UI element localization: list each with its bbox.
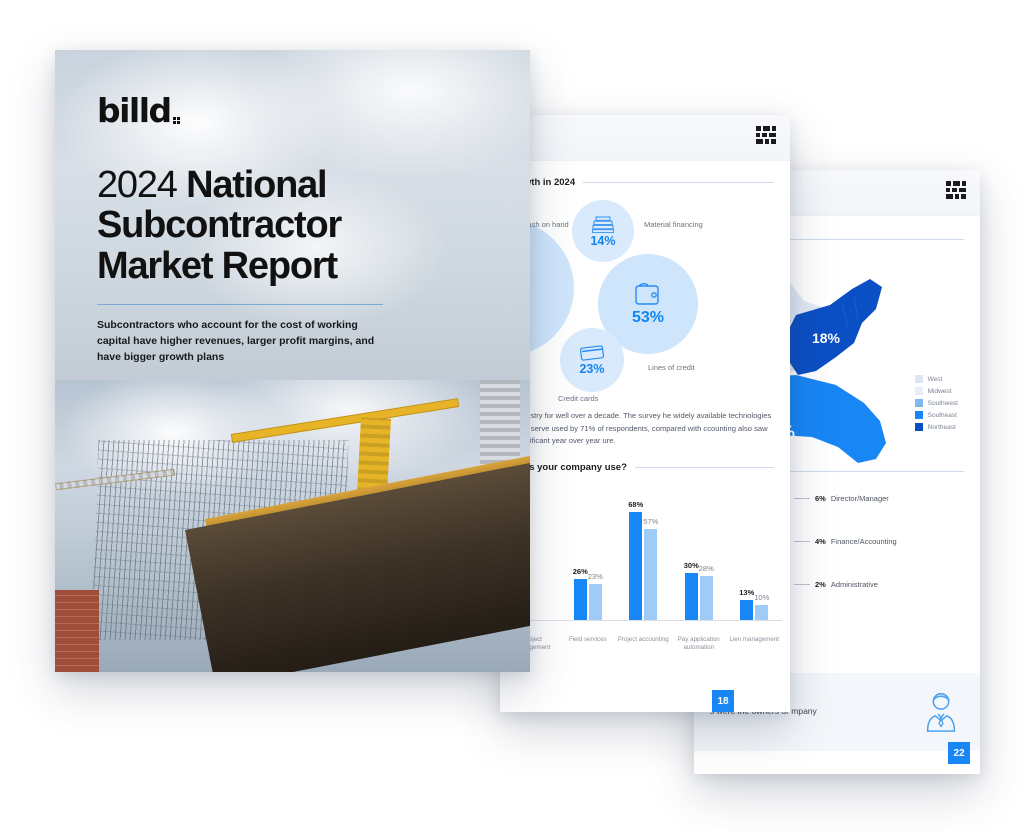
credit-card-icon [580,344,604,361]
role-callouts: 6% Director/Manager 4% Finance/Accountin… [794,494,974,623]
cover-subtitle: Subcontractors who account for the cost … [97,318,377,365]
bar-value-label: 13% [739,588,754,597]
billd-wordmark: billd [97,94,180,127]
bar-light-project-accounting: 57% [644,529,657,621]
legend-swatch-midwest [915,387,923,395]
bar-dark-lien: 13% [740,600,753,621]
bar-chart-axis [500,620,782,621]
legend-swatch-west [915,375,923,383]
bubble-label-material: Material financing [644,220,703,229]
cover-divider-rule [97,304,383,306]
technology-paragraph: industry for well over a decade. The sur… [516,410,774,448]
bubble-value-credit-lines: 53% [632,309,664,327]
map-region-northeast [786,279,882,375]
legend-swatch-southwest [915,399,923,407]
bubble-label-credit-lines: Lines of credit [648,363,695,372]
funding-bubble-chart: 72% Cash on hand 14% Material financing [516,198,774,398]
cover-title-national: National [186,164,326,206]
bar-value-label: 68% [628,500,643,509]
bar-dark-pay-app: 30% [685,573,698,621]
map-legend: West Midwest Southwest Southeast [915,375,958,435]
bar-light-lien: 10% [755,605,768,621]
legend-item-southeast: Southeast [915,411,958,419]
cover-content: billd 2024 National Subcontractor Market… [55,50,530,380]
cover-title-line-1: 2024 National [97,165,490,205]
role-callout-finance: 4% Finance/Accounting [794,537,974,546]
brick-grid-icon [946,181,966,199]
legend-item-southwest: Southwest [915,399,958,407]
xlabel-lien-management: Lien management [727,636,783,653]
xlabel-project-accounting: Project accounting [616,636,672,653]
bar-value-label: 57% [643,517,658,526]
bar-dark-project-accounting: 68% [629,512,642,621]
bar-value-label: 28% [699,564,714,573]
brick-grid-icon [756,126,776,144]
growth-section-title: ...wth in 2024 [516,177,774,188]
tech-chart-title: ...es your company use? [516,462,774,473]
leader-line [794,541,810,542]
bubble-value-credit-cards: 23% [579,362,604,376]
bar-chart-x-labels: Bid management Estimating/ takeoff Mater… [500,636,782,653]
bubble-label-credit-cards: Credit cards [558,394,598,403]
cover-title-year: 2024 [97,164,177,206]
role-callout-administrative: 2% Administrative [794,580,974,589]
leader-line [794,584,810,585]
brick-wall-icon [592,215,614,233]
role-callout-director: 6% Director/Manager [794,494,974,503]
bar-group-field-services: 26% 23% [560,496,616,621]
bubble-value-material: 14% [590,234,615,248]
title-rule [635,467,774,468]
bar-group-project-accounting: 68% 57% [616,496,672,621]
cover-title: 2024 National Subcontractor Market Repor… [97,165,490,286]
bar-groups: 26% 23% 68% 57% [500,496,782,621]
billd-logo-text: billd [97,94,171,127]
legend-item-northeast: Northeast [915,423,958,431]
leader-line [794,498,810,499]
wallet-icon [633,281,663,307]
title-rule [583,182,774,183]
technology-bar-chart: 26% 23% 68% 57% [516,487,774,657]
report-mockup-stage: ...k in? 21% [0,0,1024,833]
bar-value-label: 10% [754,593,769,602]
cover-title-line-2: Subcontractor [97,205,490,245]
report-cover-page[interactable]: billd 2024 National Subcontractor Market… [55,50,530,672]
brick-wall [55,590,99,672]
bubble-material-financing: 14% [572,200,634,262]
bubble-credit-cards: 23% [560,328,624,392]
legend-item-midwest: Midwest [915,387,958,395]
bar-group-lien-management: 13% 10% [727,496,783,621]
page-number-badge-22: 22 [948,742,970,764]
bar-value-label: 30% [684,561,699,570]
businessman-avatar-icon [918,689,964,735]
report-page-technology[interactable]: ...wth in 2024 72% Cash on hand [500,115,790,712]
legend-swatch-northeast [915,423,923,431]
map-value-northeast: 18% [812,330,841,346]
xlabel-pay-application-automation: Pay application automation [671,636,727,653]
page-number-badge-18: 18 [712,690,734,712]
xlabel-field-services: Field services [560,636,616,653]
cover-top-section: billd 2024 National Subcontractor Market… [55,50,530,380]
page-header-technology [500,115,790,161]
legend-item-west: West [915,375,958,383]
page-body-technology: ...wth in 2024 72% Cash on hand [500,161,790,657]
bar-light-pay-app: 28% [700,576,713,621]
bar-light-field-services: 23% [589,584,602,621]
bar-value-label: 26% [573,567,588,576]
cover-construction-photo [55,380,530,672]
bar-dark-field-services: 26% [574,579,587,621]
legend-swatch-southeast [915,411,923,419]
bar-value-label: 23% [588,572,603,581]
bar-group-pay-application-automation: 30% 28% [671,496,727,621]
billd-logo-mark-icon [173,117,180,124]
cover-title-line-3: Market Report [97,246,490,286]
